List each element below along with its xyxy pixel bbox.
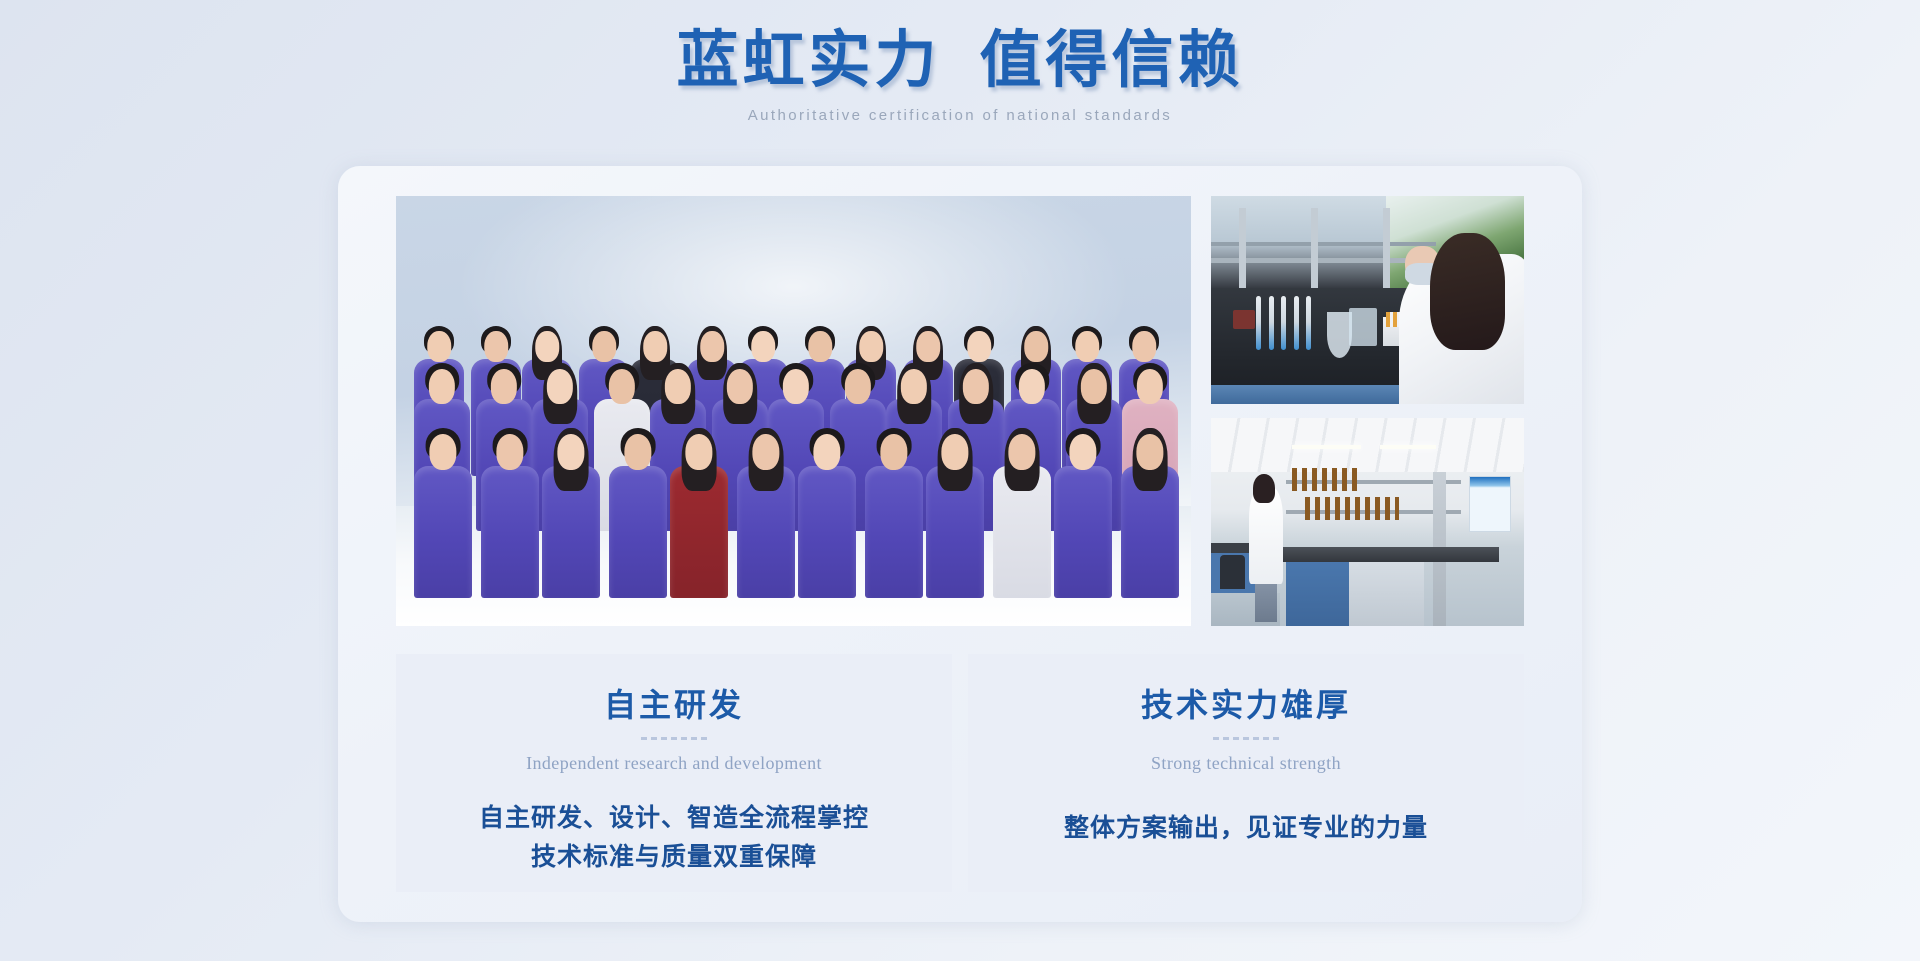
group-photo-person — [1121, 428, 1179, 598]
lab1-researcher-hair — [1430, 233, 1505, 349]
person-head — [1024, 331, 1048, 362]
group-photo-person — [737, 428, 795, 598]
media-gallery — [396, 196, 1524, 626]
lab2-ceiling-light — [1380, 445, 1436, 449]
person-head — [592, 331, 616, 362]
person-head — [1019, 369, 1045, 404]
promo-page: 蓝虹实力 值得信赖 Authoritative certification of… — [0, 0, 1920, 961]
group-photo-person — [865, 428, 923, 598]
person-head — [1132, 331, 1156, 362]
lab-photo-pipetting[interactable] — [1211, 196, 1524, 404]
group-photo-person — [670, 428, 728, 598]
person-uniform — [414, 466, 472, 598]
feature-card-body: 整体方案输出，见证专业的力量 — [1064, 810, 1428, 849]
page-title: 蓝虹实力 值得信赖 — [0, 26, 1920, 97]
person-head — [491, 369, 517, 404]
person-head — [1137, 369, 1163, 404]
person-uniform — [865, 466, 923, 598]
person-uniform — [609, 466, 667, 598]
person-head — [783, 369, 809, 404]
person-head — [751, 331, 775, 362]
group-photo-person — [542, 428, 600, 598]
person-head — [547, 369, 573, 404]
lab1-shelf-post — [1383, 208, 1390, 291]
feature-card-english: Independent research and development — [526, 753, 822, 774]
dashed-divider-icon — [1213, 737, 1279, 740]
dashed-divider-icon — [641, 737, 707, 740]
person-head — [624, 434, 651, 470]
page-header: 蓝虹实力 值得信赖 Authoritative certification of… — [0, 26, 1920, 124]
lab1-shelf-post — [1311, 208, 1318, 291]
lab-scene-1 — [1211, 196, 1524, 404]
feature-card-body: 自主研发、设计、智造全流程掌控 技术标准与质量双重保障 — [479, 800, 869, 878]
person-head — [967, 331, 991, 362]
feature-card-technology[interactable]: 技术实力雄厚 Strong technical strength 整体方案输出，… — [968, 654, 1524, 892]
feature-card-title: 技术实力雄厚 — [1141, 680, 1351, 726]
person-head — [1136, 434, 1163, 470]
group-photo-person — [1054, 428, 1112, 598]
person-head — [484, 331, 508, 362]
person-head — [1075, 331, 1099, 362]
lab1-shelf-post — [1239, 208, 1246, 291]
lab2-reagent-bottles — [1305, 497, 1399, 520]
lab2-worker-legs — [1255, 582, 1277, 622]
person-head — [429, 434, 456, 470]
person-head — [727, 369, 753, 404]
group-photo[interactable] — [396, 196, 1191, 626]
group-photo-person — [798, 428, 856, 598]
person-head — [859, 331, 883, 362]
person-head — [496, 434, 523, 470]
lab2-ceiling-light — [1292, 445, 1361, 449]
group-photo-person — [481, 428, 539, 598]
person-head — [685, 434, 712, 470]
person-head — [752, 434, 779, 470]
lab1-beaker — [1349, 308, 1377, 345]
group-photo-person — [414, 428, 472, 598]
lab2-safety-poster — [1469, 476, 1512, 532]
person-head — [901, 369, 927, 404]
group-photo-person — [993, 428, 1051, 598]
person-head — [427, 331, 451, 362]
person-head — [845, 369, 871, 404]
person-head — [609, 369, 635, 404]
group-photo-person — [926, 428, 984, 598]
page-subtitle: Authoritative certification of national … — [0, 107, 1920, 124]
person-uniform — [1054, 466, 1112, 598]
person-head — [941, 434, 968, 470]
person-head — [808, 331, 832, 362]
person-head — [429, 369, 455, 404]
feature-card-rnd[interactable]: 自主研发 Independent research and developmen… — [396, 654, 952, 892]
group-photo-front-row — [396, 428, 1191, 598]
lab2-ceiling — [1211, 418, 1524, 472]
person-uniform — [798, 466, 856, 598]
person-head — [880, 434, 907, 470]
content-panel: 自主研发 Independent research and developmen… — [338, 166, 1582, 922]
lab1-reagent-bottle — [1233, 310, 1255, 329]
person-head — [557, 434, 584, 470]
person-head — [1081, 369, 1107, 404]
lab-photo-overview[interactable] — [1211, 418, 1524, 626]
person-uniform — [481, 466, 539, 598]
person-head — [700, 331, 724, 362]
lab2-worker-hair — [1253, 474, 1275, 503]
person-head — [1008, 434, 1035, 470]
feature-cards: 自主研发 Independent research and developmen… — [396, 654, 1524, 892]
lab2-island-bench — [1280, 547, 1499, 562]
feature-card-title: 自主研发 — [604, 680, 744, 726]
group-photo-person — [609, 428, 667, 598]
lab-scene-2 — [1211, 418, 1524, 626]
person-head — [916, 331, 940, 362]
person-head — [813, 434, 840, 470]
person-head — [665, 369, 691, 404]
person-head — [963, 369, 989, 404]
person-head — [1069, 434, 1096, 470]
lab2-island-cabinet-light — [1349, 562, 1424, 626]
person-head — [643, 331, 667, 362]
lab1-pipette-stand — [1255, 296, 1318, 350]
feature-card-english: Strong technical strength — [1151, 753, 1341, 774]
lab2-stool — [1220, 555, 1245, 588]
person-head — [535, 331, 559, 362]
lab2-reagent-bottles — [1292, 468, 1361, 491]
